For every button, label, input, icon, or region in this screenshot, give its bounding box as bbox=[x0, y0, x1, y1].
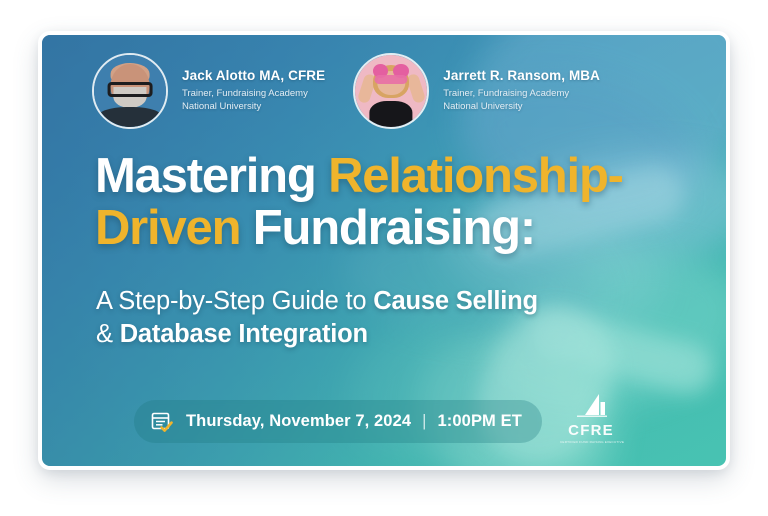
subtitle-line-1-bold: Cause Selling bbox=[373, 287, 538, 315]
subtitle: A Step-by-Step Guide to Cause Selling& D… bbox=[96, 285, 696, 351]
subtitle-line-1-light: A Step-by-Step Guide to bbox=[96, 287, 373, 315]
subtitle-line-2-light: & bbox=[96, 320, 120, 348]
headline-part-4: Fundraising: bbox=[240, 201, 535, 255]
speaker-name: Jack Alotto MA, CFRE bbox=[182, 68, 325, 84]
headline-part-1: Mastering bbox=[95, 149, 328, 203]
calendar-check-icon bbox=[150, 410, 174, 434]
speaker-avatar-jack-alotto bbox=[92, 53, 168, 129]
speaker-list: Jack Alotto MA, CFRE Trainer, Fundraisin… bbox=[92, 53, 600, 129]
cfre-logo: CFRE CERTIFIED FUND RAISING EXECUTIVE bbox=[560, 393, 622, 443]
webinar-promo-card: Jack Alotto MA, CFRE Trainer, Fundraisin… bbox=[38, 31, 730, 470]
speaker-role-line-1: Trainer, Fundraising Academy bbox=[443, 87, 600, 100]
event-time: 1:00PM ET bbox=[438, 412, 522, 431]
headline-part-2: Relationship- bbox=[328, 149, 623, 203]
cfre-sail-icon bbox=[569, 404, 613, 421]
speaker-role-line-2: National University bbox=[443, 100, 600, 113]
speaker-name: Jarrett R. Ransom, MBA bbox=[443, 68, 600, 84]
page-title: Mastering Relationship-Driven Fundraisin… bbox=[95, 150, 715, 255]
event-datetime-badge: Thursday, November 7, 2024 | 1:00PM ET bbox=[134, 400, 542, 443]
speaker-item: Jack Alotto MA, CFRE Trainer, Fundraisin… bbox=[92, 53, 325, 129]
subtitle-line-2-bold: Database Integration bbox=[120, 320, 368, 348]
event-separator: | bbox=[422, 412, 426, 431]
speaker-role-line-1: Trainer, Fundraising Academy bbox=[182, 87, 325, 100]
promo-graphic: Jack Alotto MA, CFRE Trainer, Fundraisin… bbox=[0, 0, 768, 516]
speaker-avatar-jarrett-ransom bbox=[353, 53, 429, 129]
headline-part-3: Driven bbox=[95, 201, 240, 255]
cfre-subtext: CERTIFIED FUND RAISING EXECUTIVE bbox=[560, 440, 622, 445]
speaker-role-line-2: National University bbox=[182, 100, 325, 113]
speaker-item: Jarrett R. Ransom, MBA Trainer, Fundrais… bbox=[353, 53, 600, 129]
cfre-wordmark: CFRE bbox=[560, 423, 622, 438]
event-date: Thursday, November 7, 2024 bbox=[186, 412, 411, 431]
